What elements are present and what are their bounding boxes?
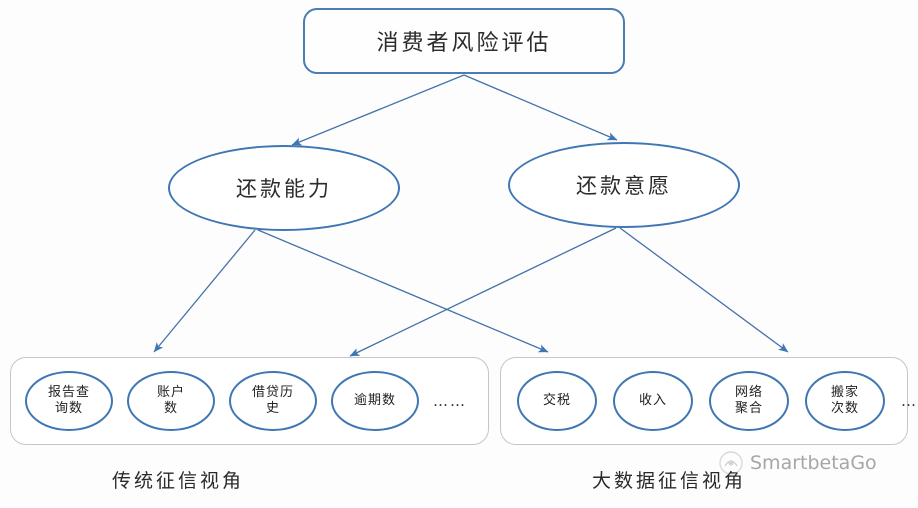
group-bigdata-items: 交税 收入 网络 聚合 搬家 次数 …… [501,358,907,444]
leaf-label-line: 账户 [157,385,185,401]
edge-willingness-to-bigdata [620,228,788,352]
circular-logo-icon [718,450,744,476]
leaf-label-line: 数 [164,401,178,417]
diagram-canvas: 消费者风险评估 还款能力 还款意愿 报告查 询数 账户 数 借贷历 史 逾期数 … [0,0,918,508]
traditional-more-ellipsis: …… [433,392,467,410]
edge-ability-to-bigdata [258,230,548,352]
watermark: SmartbetaGo [718,450,877,476]
group-traditional-items: 报告查 询数 账户 数 借贷历 史 逾期数 …… [11,358,488,444]
leaf-label-line: 收入 [639,393,667,409]
leaf-label-line: 史 [266,401,280,417]
leaf-label-line: 搬家 [831,385,859,401]
leaf-network-aggregation[interactable]: 网络 聚合 [709,371,789,431]
leaf-label-line: 聚合 [735,401,763,417]
leaf-label-line: 逾期数 [354,393,396,409]
node-repayment-willingness[interactable]: 还款意愿 [508,142,740,228]
edge-ability-to-traditional [154,230,255,352]
edge-root-to-ability [292,75,464,145]
leaf-account-count[interactable]: 账户 数 [127,371,215,431]
caption-traditional-credit: 传统征信视角 [112,466,244,493]
node-repayment-ability[interactable]: 还款能力 [168,145,400,231]
leaf-tax-payment[interactable]: 交税 [517,371,597,431]
leaf-overdue-count[interactable]: 逾期数 [331,371,419,431]
watermark-text: SmartbetaGo [750,452,877,474]
leaf-label-line: 借贷历 [252,385,294,401]
leaf-report-query-count[interactable]: 报告查 询数 [25,371,113,431]
node-label-root: 消费者风险评估 [376,25,551,57]
leaf-loan-history[interactable]: 借贷历 史 [229,371,317,431]
leaf-label-line: 网络 [735,385,763,401]
leaf-label-line: 报告查 [48,385,90,401]
leaf-label-line: 询数 [55,401,83,417]
leaf-income[interactable]: 收入 [613,371,693,431]
node-label-repayment-ability: 还款能力 [236,173,332,203]
group-big-data-credit: 交税 收入 网络 聚合 搬家 次数 …… [500,357,908,445]
node-consumer-risk-assessment[interactable]: 消费者风险评估 [303,8,625,74]
bigdata-more-ellipsis: …… [901,392,918,410]
group-traditional-credit: 报告查 询数 账户 数 借贷历 史 逾期数 …… [10,357,489,445]
node-label-repayment-willingness: 还款意愿 [576,170,672,200]
leaf-moving-count[interactable]: 搬家 次数 [805,371,885,431]
edge-willingness-to-traditional [350,228,616,356]
edge-root-to-willingness [464,75,617,140]
leaf-label-line: 交税 [543,393,571,409]
leaf-label-line: 次数 [831,401,859,417]
